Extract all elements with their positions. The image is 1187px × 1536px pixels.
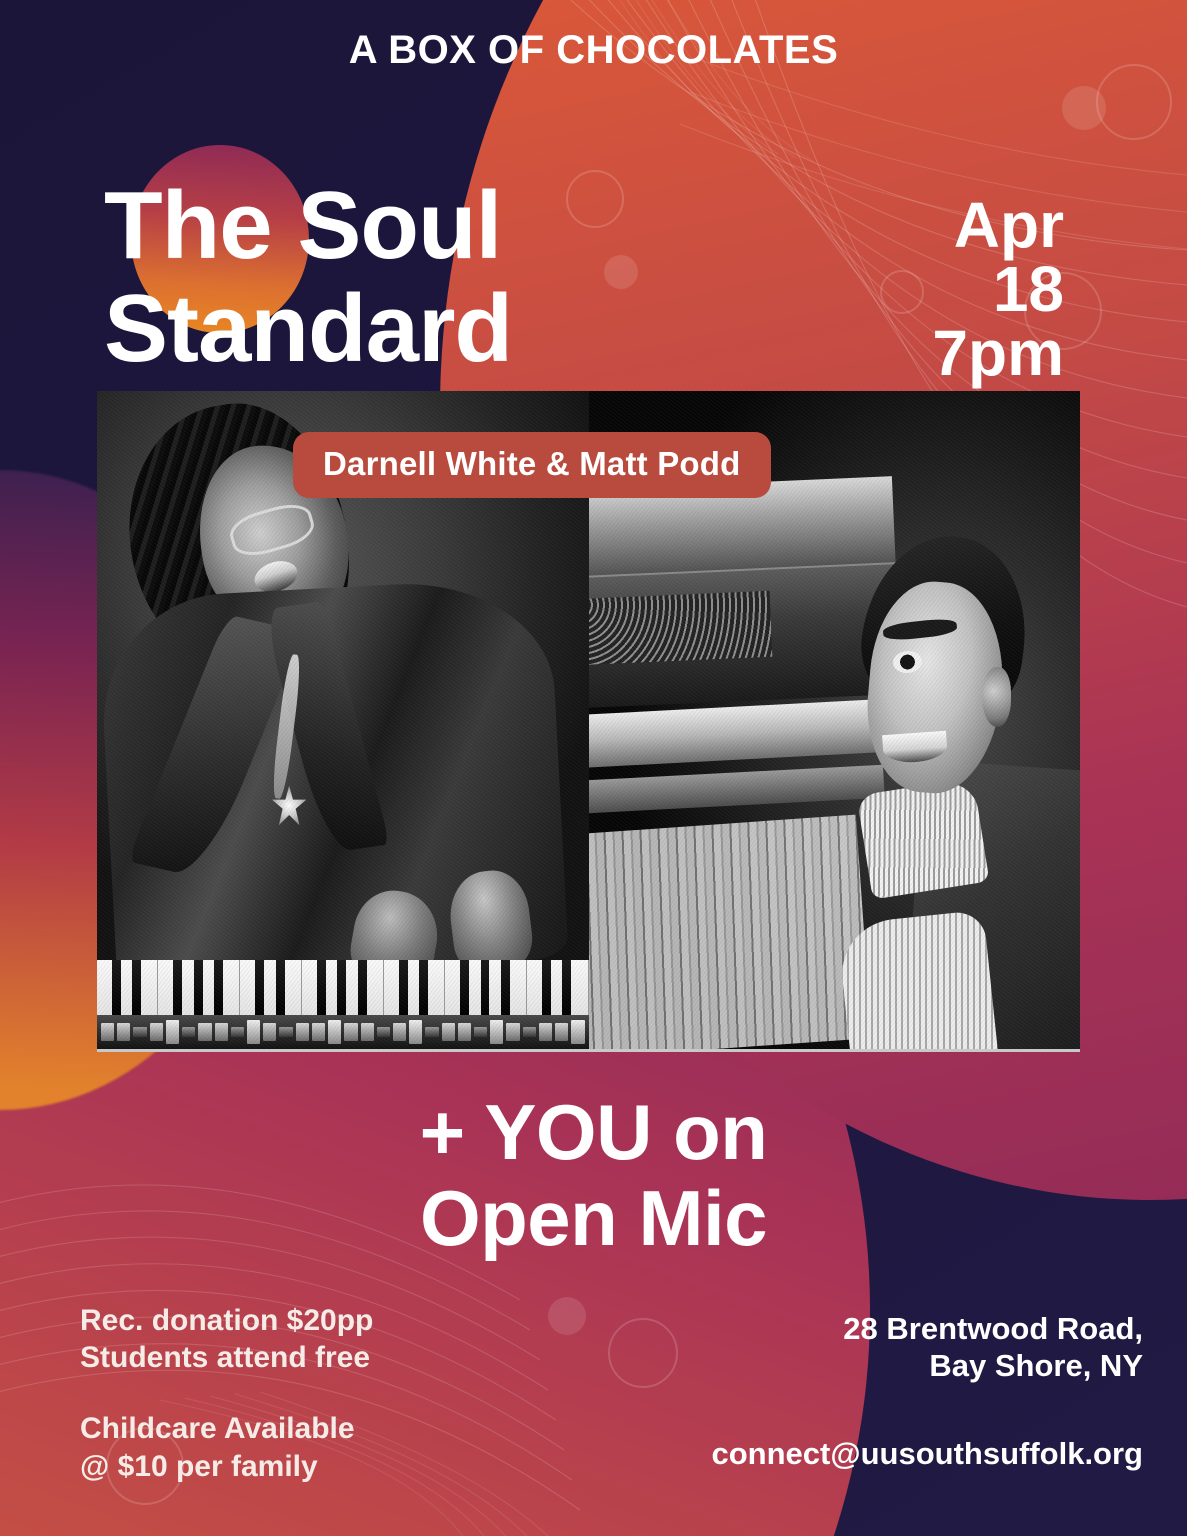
pricing-info: Rec. donation $20pp Students attend free… (80, 1302, 373, 1485)
donation-line-2: Students attend free (80, 1339, 373, 1376)
left-photo-synth-controls (97, 1015, 589, 1049)
venue-address: 28 Brentwood Road, Bay Shore, NY (712, 1310, 1144, 1384)
event-poster: A BOX OF CHOCOLATES The Soul Standard Ap… (0, 0, 1187, 1536)
childcare-info: Childcare Available @ $10 per family (80, 1410, 373, 1484)
childcare-line-1: Childcare Available (80, 1410, 373, 1447)
right-photo-piano-strip-b (589, 764, 885, 813)
childcare-line-2: @ $10 per family (80, 1448, 373, 1485)
open-mic-headline: + YOU on Open Mic (0, 1090, 1187, 1262)
performers-badge: Darnell White & Matt Podd (293, 432, 771, 498)
right-photo-ear (982, 667, 1011, 726)
poster-content: A BOX OF CHOCOLATES The Soul Standard Ap… (0, 0, 1187, 1536)
right-photo-piano-strip-a (589, 698, 895, 768)
right-photo-piano-keys (589, 815, 872, 1049)
contact-email[interactable]: connect@uusouthsuffolk.org (712, 1436, 1144, 1472)
right-photo-piano-grill (589, 591, 772, 665)
event-date-time: Apr 18 7pm (932, 193, 1064, 385)
kicker-series-title: A BOX OF CHOCOLATES (0, 28, 1187, 73)
page-title: The Soul Standard (104, 175, 512, 380)
right-photo-collar (856, 777, 989, 899)
donation-info: Rec. donation $20pp Students attend free (80, 1302, 373, 1376)
donation-line-1: Rec. donation $20pp (80, 1302, 373, 1339)
venue-contact-info: 28 Brentwood Road, Bay Shore, NY connect… (712, 1310, 1144, 1472)
